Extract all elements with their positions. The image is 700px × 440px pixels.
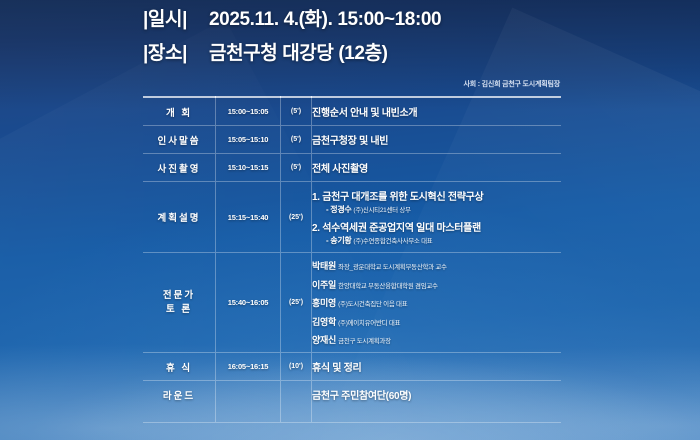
table-row: 사진촬영 15:10~15:15 (5') 전체 사진촬영 (143, 154, 561, 182)
row-item-line1: 전문가 (143, 289, 215, 303)
panelist: 양재신 금천구 도시계획과장 (312, 333, 561, 346)
event-date-value: 2025.11. 4.(화). 15:00~18:00 (205, 4, 441, 31)
table-row: 개 회 15:00~15:05 (5') 진행순서 안내 및 내빈소개 (143, 97, 561, 126)
table-row: 계획설명 15:15~15:40 (25') 1. 금천구 대개조를 위한 도시… (143, 182, 561, 253)
speaker-affiliation: (주)신시티21센터 상무 (353, 207, 410, 214)
row-duration: (5') (281, 126, 312, 154)
row-duration: (5') (281, 154, 312, 182)
row-item: 개 회 (143, 97, 216, 126)
row-detail: 휴식 및 정리 (312, 353, 562, 381)
panelist-name: 이주일 (312, 280, 336, 290)
row-time: 15:00~15:05 (216, 97, 281, 126)
row-item: 휴 식 (143, 353, 216, 381)
panelist-affiliation: 한양대학교 부동산융합대학원 겸임교수 (338, 283, 438, 290)
row-time: 15:10~15:15 (216, 154, 281, 182)
row-item: 인사말씀 (143, 126, 216, 154)
row-item-line2: 토 론 (143, 303, 215, 317)
schedule-table-wrapper: 개 회 15:00~15:05 (5') 진행순서 안내 및 내빈소개 인사말씀… (143, 96, 561, 423)
speaker-name: - 송기황 (326, 236, 351, 245)
table-row: 휴 식 16:05~16:15 (10') 휴식 및 정리 (143, 353, 561, 381)
row-time: 16:05~16:15 (216, 353, 281, 381)
row-detail: 금천구청장 및 내빈 (312, 126, 562, 154)
row-detail: 진행순서 안내 및 내빈소개 (312, 97, 562, 126)
panelist: 김영학 (주)에이치유어반디 대표 (312, 315, 561, 328)
row-duration: (10') (281, 353, 312, 381)
row-time: 15:05~15:10 (216, 126, 281, 154)
table-row: 전문가 토 론 15:40~16:05 (25') 박태원 좌장_광운대학교 도… (143, 253, 561, 353)
row-item: 라운드 (143, 381, 216, 423)
row-detail: 금천구 주민참여단(60명) (312, 381, 562, 423)
speaker-name: - 정경수 (326, 205, 351, 214)
event-date-label: |일시| (143, 4, 205, 31)
event-header: |일시| 2025.11. 4.(화). 15:00~18:00 |장소| 금천… (143, 4, 663, 72)
panelist-name: 양재신 (312, 335, 336, 345)
topic-title: 2. 석수역세권 준공업지역 일대 마스터플랜 (312, 219, 561, 234)
row-time (216, 381, 281, 423)
row-time: 15:15~15:40 (216, 182, 281, 253)
topic-block: 1. 금천구 대개조를 위한 도시혁신 전략구상 - 정경수 (주)신시티21센… (312, 188, 561, 215)
moderator-note: 사회 : 김신희 금천구 도시계획팀장 (464, 79, 560, 89)
panelist-name: 홍미영 (312, 298, 336, 308)
row-time: 15:40~16:05 (216, 253, 281, 353)
event-program-poster: |일시| 2025.11. 4.(화). 15:00~18:00 |장소| 금천… (0, 0, 700, 440)
row-detail: 전체 사진촬영 (312, 154, 562, 182)
speaker-affiliation: (주)수연종합건축사사무소 대표 (353, 238, 432, 245)
panelist-affiliation: (주)에이치유어반디 대표 (338, 320, 400, 327)
panelist: 이주일 한양대학교 부동산융합대학원 겸임교수 (312, 278, 561, 291)
panelist-name: 박태원 (312, 261, 336, 271)
table-row: 인사말씀 15:05~15:10 (5') 금천구청장 및 내빈 (143, 126, 561, 154)
topic-title: 1. 금천구 대개조를 위한 도시혁신 전략구상 (312, 188, 561, 203)
event-date-line: |일시| 2025.11. 4.(화). 15:00~18:00 (143, 4, 663, 31)
row-detail-panelists: 박태원 좌장_광운대학교 도시계획부동산학과 교수 이주일 한양대학교 부동산융… (312, 253, 562, 353)
panelist: 홍미영 (주)도시건축집단 이음 대표 (312, 296, 561, 309)
event-place-value: 금천구청 대강당 (12층) (205, 38, 388, 65)
row-detail-topics: 1. 금천구 대개조를 위한 도시혁신 전략구상 - 정경수 (주)신시티21센… (312, 182, 562, 253)
topic-speaker: - 송기황 (주)수연종합건축사사무소 대표 (312, 235, 561, 246)
panelist-affiliation: 좌장_광운대학교 도시계획부동산학과 교수 (338, 264, 447, 271)
panelist-affiliation: 금천구 도시계획과장 (338, 338, 391, 345)
row-duration: (5') (281, 97, 312, 126)
schedule-table: 개 회 15:00~15:05 (5') 진행순서 안내 및 내빈소개 인사말씀… (143, 96, 561, 423)
panelist-name: 김영학 (312, 317, 336, 327)
row-duration: (25') (281, 253, 312, 353)
event-place-line: |장소| 금천구청 대강당 (12층) (143, 38, 663, 65)
row-item: 전문가 토 론 (143, 253, 216, 353)
topic-block: 2. 석수역세권 준공업지역 일대 마스터플랜 - 송기황 (주)수연종합건축사… (312, 219, 561, 246)
row-duration (281, 381, 312, 423)
row-item: 사진촬영 (143, 154, 216, 182)
table-row: 라운드 금천구 주민참여단(60명) (143, 381, 561, 423)
row-item: 계획설명 (143, 182, 216, 253)
panelist: 박태원 좌장_광운대학교 도시계획부동산학과 교수 (312, 259, 561, 272)
event-place-label: |장소| (143, 38, 205, 65)
row-duration: (25') (281, 182, 312, 253)
panelist-affiliation: (주)도시건축집단 이음 대표 (338, 301, 407, 308)
topic-speaker: - 정경수 (주)신시티21센터 상무 (312, 204, 561, 215)
